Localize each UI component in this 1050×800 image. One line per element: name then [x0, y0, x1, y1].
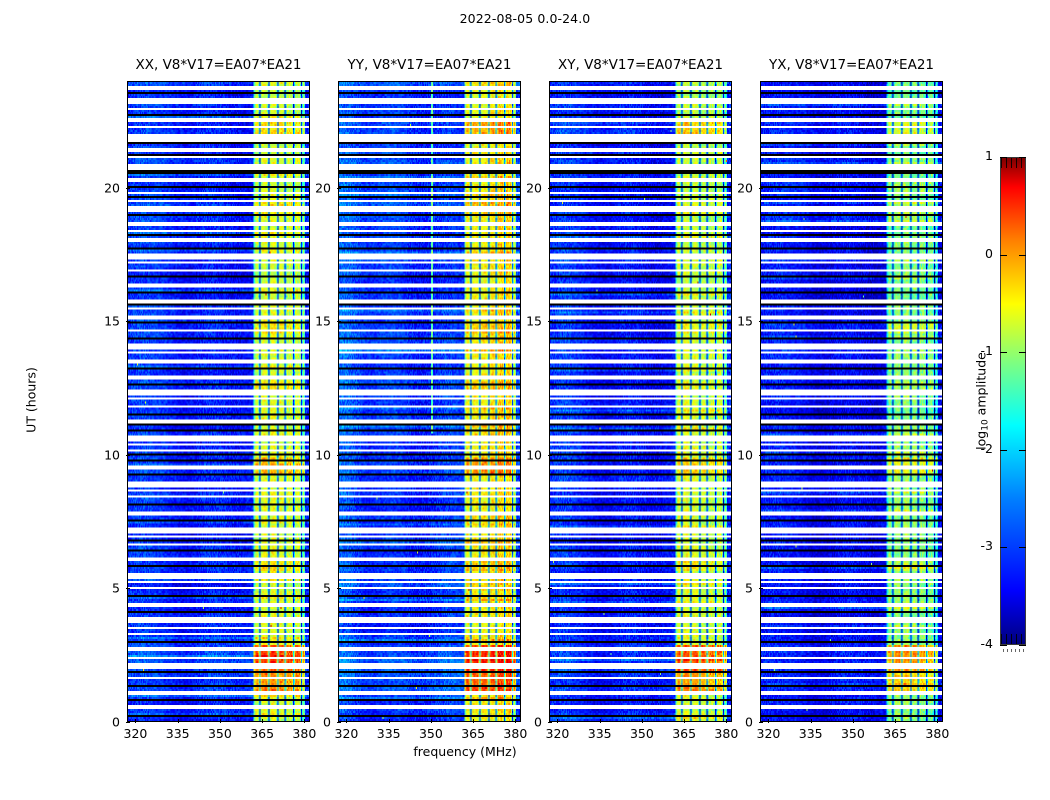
panel-yy-ytick	[337, 455, 341, 456]
panel-xx-xticklabel-350: 350	[208, 726, 232, 741]
colorbar-tick	[1000, 645, 1007, 646]
panel-xx-ytick	[126, 588, 130, 589]
panel-yx-yticklabel-15: 15	[737, 314, 753, 329]
figure-canvas: 2022-08-05 0.0-24.0 UT (hours) frequency…	[0, 0, 1050, 800]
panel-xx-yticklabel-20: 20	[104, 180, 120, 195]
figure-suptitle: 2022-08-05 0.0-24.0	[0, 11, 1050, 26]
colorbar-tick	[1000, 352, 1007, 353]
panel-xx-xticklabel-365: 365	[250, 726, 274, 741]
panel-yy-ytick	[337, 588, 341, 589]
panel-xx-yticklabel-0: 0	[112, 715, 120, 730]
panel-xy-ytick	[548, 188, 552, 189]
colorbar-tick	[1000, 157, 1007, 158]
panel-xx-xticklabel-380: 380	[292, 726, 316, 741]
panel-xy-xticklabel-365: 365	[672, 726, 696, 741]
colorbar-ticklabel-text: -4	[981, 636, 993, 651]
y-axis-label: UT (hours)	[24, 367, 39, 433]
colorbar-under-hatch	[1001, 634, 1025, 644]
x-axis-label: frequency (MHz)	[0, 744, 930, 759]
panel-xy-yticklabel-5: 5	[534, 581, 542, 596]
panel-xy-xticklabel-320: 320	[546, 726, 570, 741]
panel-xx-waterfall-image	[128, 82, 309, 721]
panel-xy-xtick	[684, 719, 685, 723]
panel-xy-xtick	[726, 719, 727, 723]
colorbar-label-sub: 10	[981, 419, 991, 430]
colorbar-tick	[1019, 157, 1026, 158]
panel-xy-ytick	[548, 321, 552, 322]
panel-yy-yticklabel-5: 5	[323, 581, 331, 596]
colorbar-tick	[1019, 352, 1026, 353]
panel-xx-xtick	[135, 719, 136, 723]
panel-yx-waterfall-image	[761, 82, 942, 721]
panel-yy-yticklabel-15: 15	[315, 314, 331, 329]
panel-xy-axes[interactable]	[549, 81, 732, 722]
colorbar-tick	[1019, 255, 1026, 256]
panel-yy-xtick	[431, 719, 432, 723]
panel-yx-yticklabel-10: 10	[737, 447, 753, 462]
panel-xy-yticklabel-20: 20	[526, 180, 542, 195]
panel-yy[interactable]: YY, V8*V17=EA07*EA2132033535036538005101…	[338, 81, 521, 722]
panel-yx-xtick	[937, 719, 938, 723]
panel-xx-axes[interactable]	[127, 81, 310, 722]
panel-xx-xtick	[304, 719, 305, 723]
panel-yx-xticklabel-380: 380	[925, 726, 949, 741]
panel-xx-xtick	[220, 719, 221, 723]
colorbar-tick	[1019, 450, 1026, 451]
panel-xy-xticklabel-350: 350	[630, 726, 654, 741]
panel-yy-axes[interactable]	[338, 81, 521, 722]
panel-yx-ytick	[759, 588, 763, 589]
panel-xx-ytick	[126, 321, 130, 322]
panel-yy-yticklabel-20: 20	[315, 180, 331, 195]
colorbar-tick	[1000, 547, 1007, 548]
panel-yy-ytick	[337, 321, 341, 322]
panel-yx-ytick	[759, 188, 763, 189]
panel-xx-ytick	[126, 188, 130, 189]
panel-yy-xtick	[473, 719, 474, 723]
panel-xy-ytick	[548, 588, 552, 589]
panel-xx-xticklabel-320: 320	[124, 726, 148, 741]
panel-yx-xticklabel-350: 350	[841, 726, 865, 741]
panel-xx-title: XX, V8*V17=EA07*EA21	[135, 57, 301, 73]
panel-xy-yticklabel-0: 0	[534, 715, 542, 730]
colorbar-label: log10 amplitude	[974, 352, 989, 450]
colorbar-label-main: log	[974, 431, 989, 450]
panel-yx[interactable]: YX, V8*V17=EA07*EA2132033535036538005101…	[760, 81, 943, 722]
panel-yx-ytick	[759, 321, 763, 322]
panel-yy-waterfall-image	[339, 82, 520, 721]
panel-yy-xtick	[389, 719, 390, 723]
panel-yy-yticklabel-10: 10	[315, 447, 331, 462]
panel-xx-yticklabel-15: 15	[104, 314, 120, 329]
panel-xx-xticklabel-335: 335	[166, 726, 190, 741]
colorbar-label-tail: amplitude	[974, 352, 989, 419]
panel-yx-xtick	[853, 719, 854, 723]
panel-xx-yticklabel-5: 5	[112, 581, 120, 596]
panel-yx-xtick	[811, 719, 812, 723]
panel-yx-xtick	[768, 719, 769, 723]
colorbar-tick	[1000, 450, 1007, 451]
colorbar-ticklabel-text: -3	[981, 538, 993, 553]
panel-xx-xtick	[178, 719, 179, 723]
panel-yy-xticklabel-380: 380	[503, 726, 527, 741]
panel-yy-xticklabel-365: 365	[461, 726, 485, 741]
panel-yx-yticklabel-20: 20	[737, 180, 753, 195]
panel-yx-xtick	[895, 719, 896, 723]
panel-xy-yticklabel-15: 15	[526, 314, 542, 329]
panel-yx-title: YX, V8*V17=EA07*EA21	[769, 57, 934, 73]
panel-yy-ytick	[337, 188, 341, 189]
panel-yx-axes[interactable]	[760, 81, 943, 722]
panel-xx-xtick	[262, 719, 263, 723]
panel-xy-xtick	[642, 719, 643, 723]
panel-xx[interactable]: XX, V8*V17=EA07*EA2132033535036538005101…	[127, 81, 310, 722]
panel-xy-xtick	[600, 719, 601, 723]
panel-xy-xticklabel-380: 380	[714, 726, 738, 741]
panel-yy-xticklabel-335: 335	[377, 726, 401, 741]
colorbar-tick	[1019, 645, 1026, 646]
panel-yy-title: YY, V8*V17=EA07*EA21	[347, 57, 511, 73]
panel-xy-ytick	[548, 722, 552, 723]
colorbar-ticklabel-text: 0	[985, 246, 993, 261]
panel-yx-yticklabel-0: 0	[745, 715, 753, 730]
panel-yx-xticklabel-335: 335	[799, 726, 823, 741]
panel-yx-ytick	[759, 455, 763, 456]
panel-yx-yticklabel-5: 5	[745, 581, 753, 596]
panel-yy-xticklabel-350: 350	[419, 726, 443, 741]
panel-xy-title: XY, V8*V17=EA07*EA21	[558, 57, 723, 73]
colorbar-over-hatch	[1001, 158, 1025, 168]
panel-xy-yticklabel-10: 10	[526, 447, 542, 462]
panel-yx-xticklabel-365: 365	[883, 726, 907, 741]
panel-xx-ytick	[126, 455, 130, 456]
colorbar-under-marker	[1003, 649, 1024, 652]
panel-yx-xticklabel-320: 320	[757, 726, 781, 741]
colorbar[interactable]	[1000, 157, 1026, 645]
panel-yy-xtick	[515, 719, 516, 723]
panel-yy-ytick	[337, 722, 341, 723]
panel-xx-yticklabel-10: 10	[104, 447, 120, 462]
panel-yy-xtick	[346, 719, 347, 723]
panel-yy-xticklabel-320: 320	[335, 726, 359, 741]
colorbar-ticklabel-text: 1	[985, 148, 993, 163]
panel-xy-ytick	[548, 455, 552, 456]
panel-xy-xtick	[557, 719, 558, 723]
panel-xx-ytick	[126, 722, 130, 723]
panel-yy-yticklabel-0: 0	[323, 715, 331, 730]
panel-xy-xticklabel-335: 335	[588, 726, 612, 741]
panel-yx-ytick	[759, 722, 763, 723]
colorbar-tick	[1019, 547, 1026, 548]
panel-xy-waterfall-image	[550, 82, 731, 721]
panel-xy[interactable]: XY, V8*V17=EA07*EA2132033535036538005101…	[549, 81, 732, 722]
colorbar-tick	[1000, 255, 1007, 256]
